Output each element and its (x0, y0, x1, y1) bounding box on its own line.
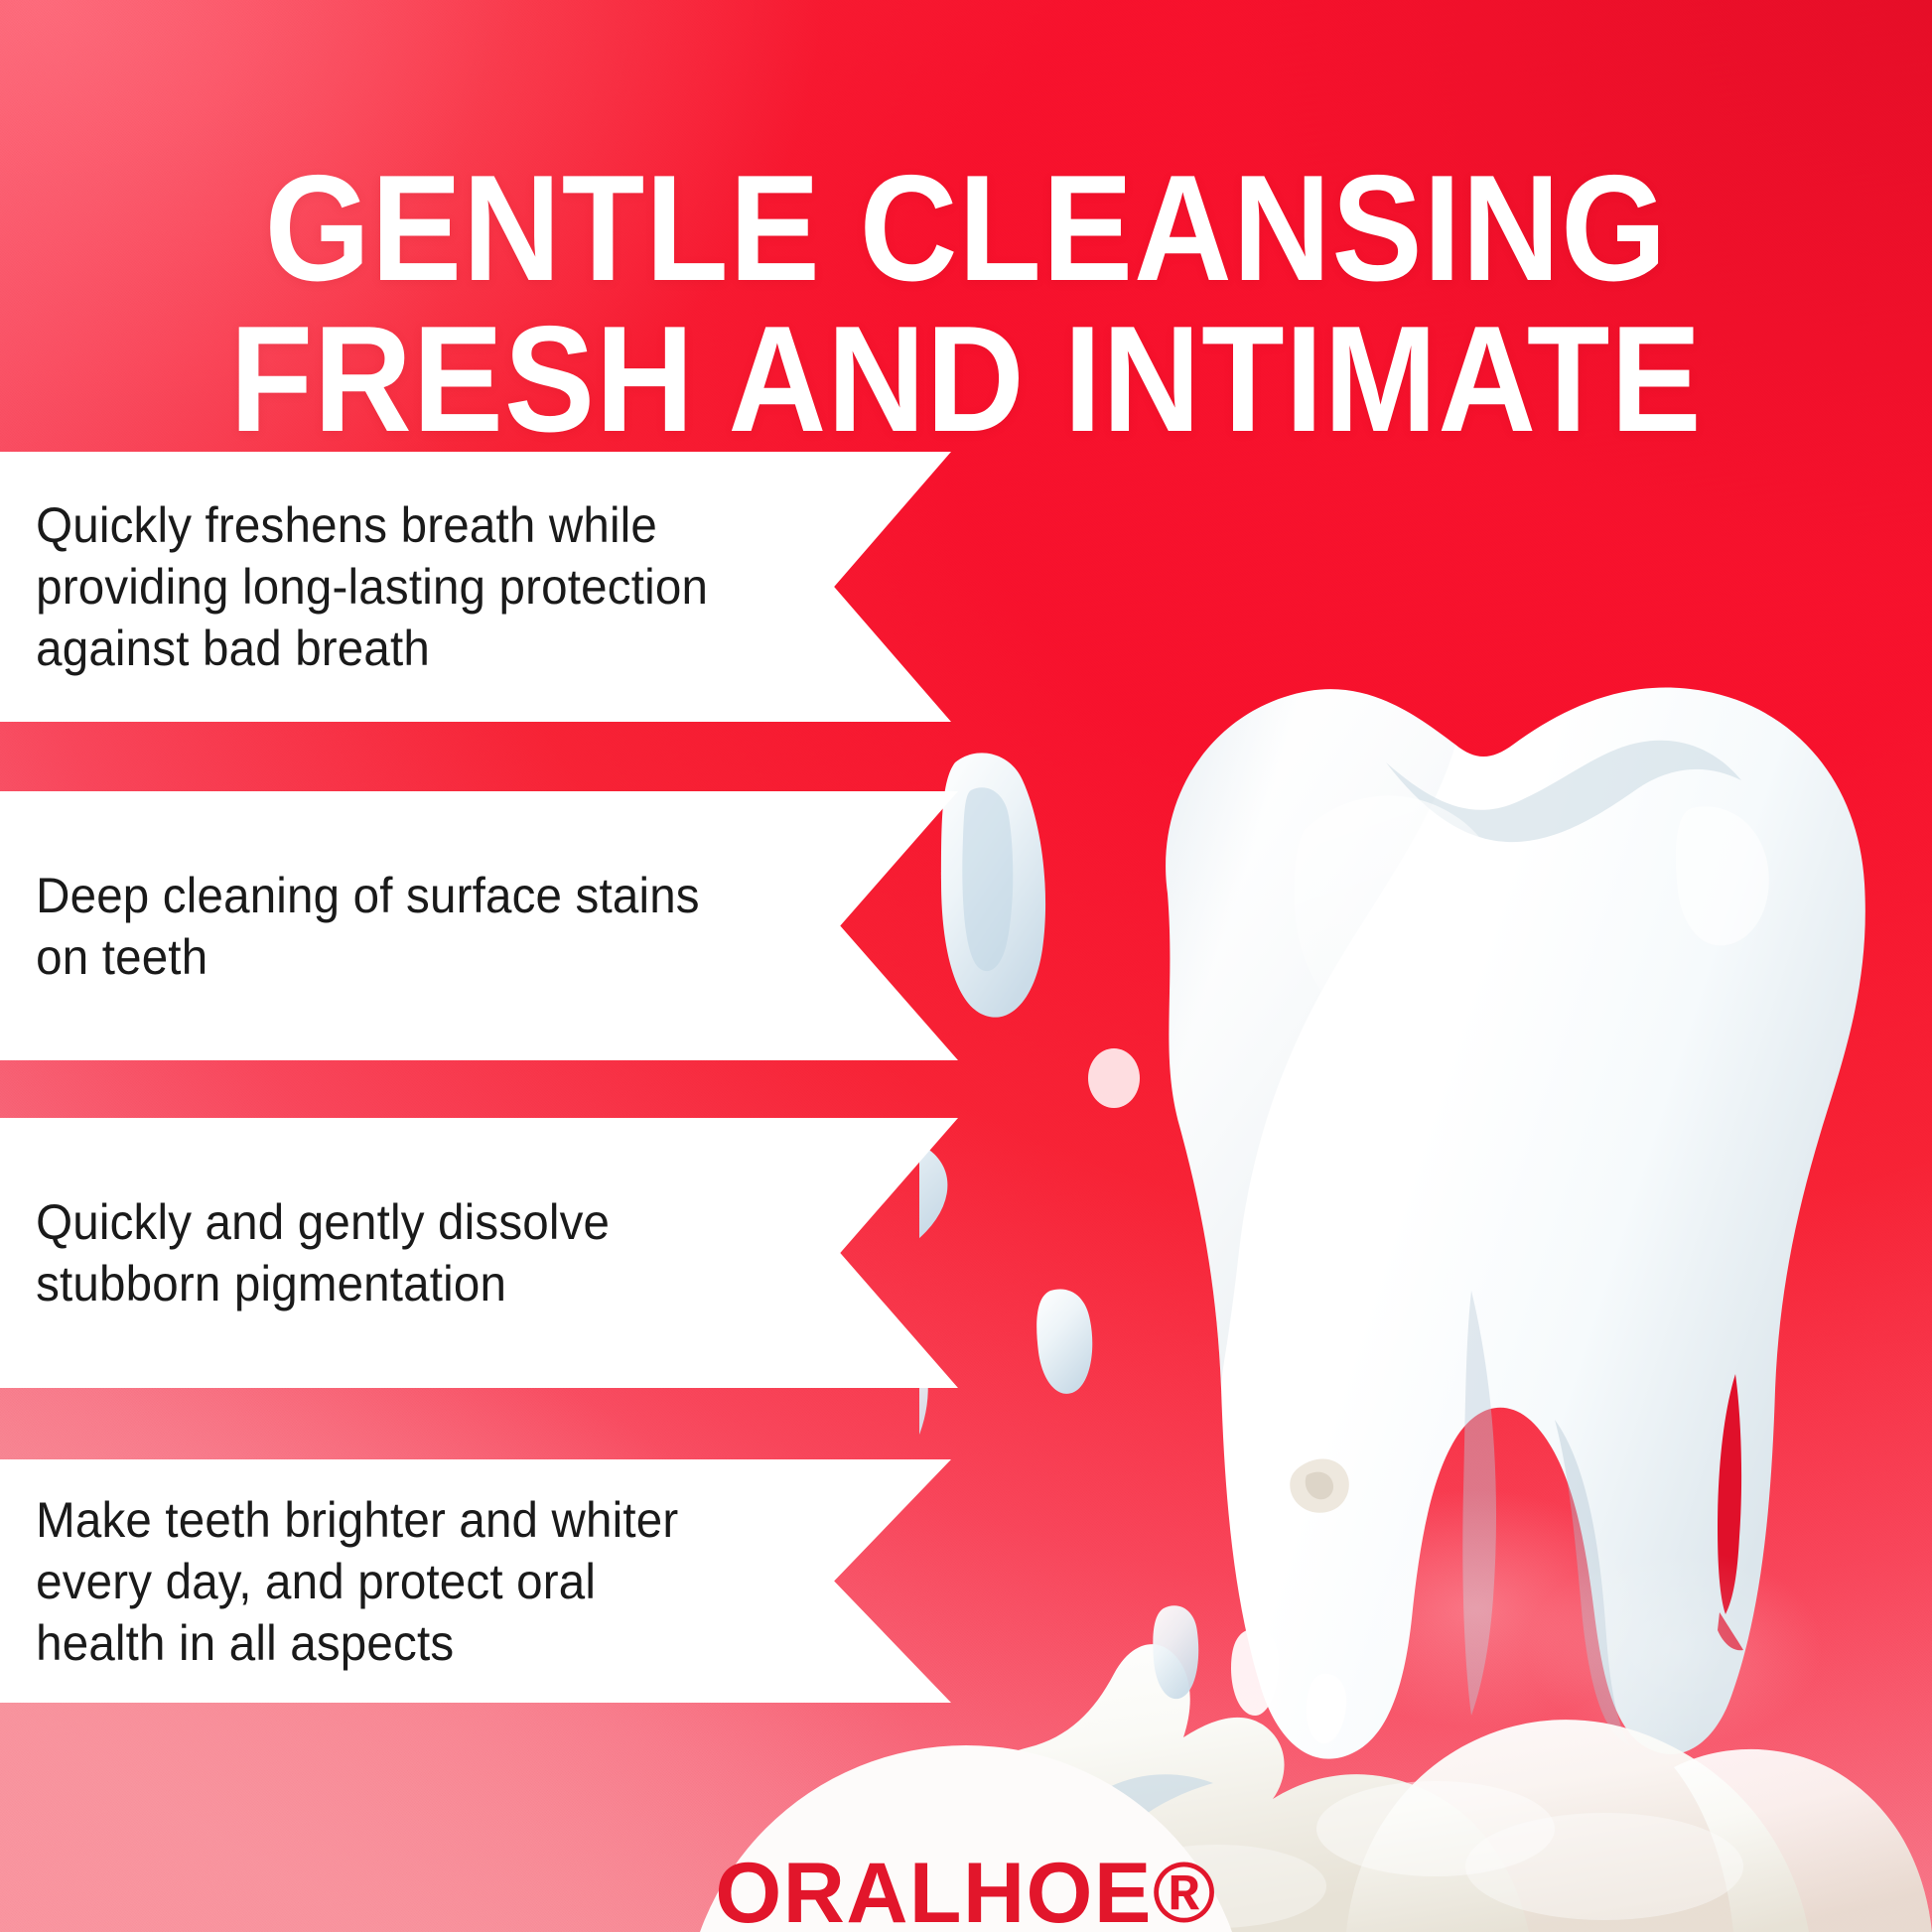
product-infographic-poster: GENTLE CLEANSING FRESH AND INTIMATE Quic… (0, 0, 1932, 1932)
feature-text: Deep cleaning of surface stains on teeth (0, 865, 860, 988)
feature-text: Make teeth brighter and whiter every day… (0, 1489, 839, 1674)
feature-text: Quickly freshens breath while providing … (0, 494, 869, 679)
feature-banner-fresh-breath: Quickly freshens breath while providing … (0, 452, 951, 722)
feature-banner-pigmentation: Quickly and gently dissolve stubborn pig… (0, 1118, 958, 1388)
page-title: GENTLE CLEANSING FRESH AND INTIMATE (96, 153, 1835, 455)
feature-text: Quickly and gently dissolve stubborn pig… (0, 1191, 770, 1314)
brand-logo-text: ORALHOE® (683, 1849, 1249, 1932)
feature-banner-whitening: Make teeth brighter and whiter every day… (0, 1459, 951, 1703)
feature-banner-deep-cleaning: Deep cleaning of surface stains on teeth (0, 791, 958, 1060)
